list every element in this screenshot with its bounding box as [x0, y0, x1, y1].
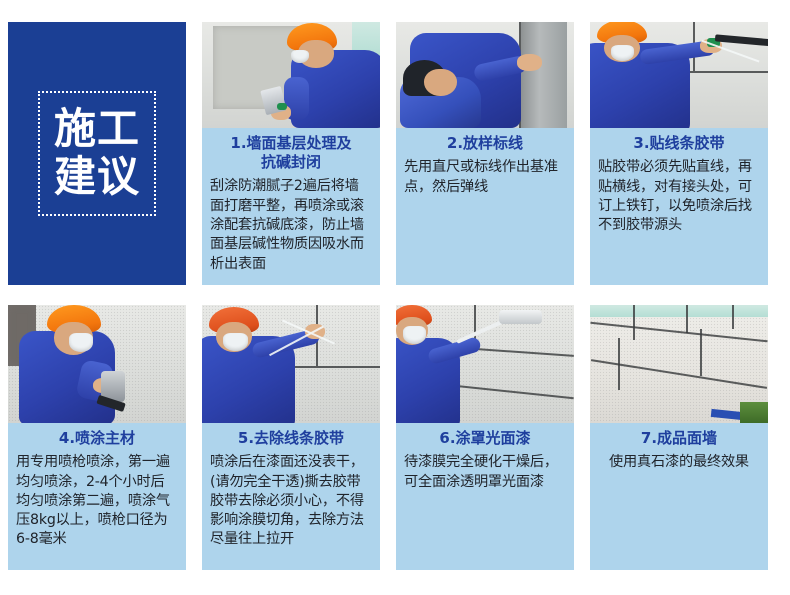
step-text-6: 待漆膜完全硬化干燥后，可全面涂透明罩光面漆: [404, 453, 566, 492]
steps-grid: 施工 建议: [8, 22, 782, 570]
step-card-2: 2.放样标线 先用直尺或标线作出基准点，然后弹线: [396, 22, 574, 285]
step-title-6: 6.涂罩光面漆: [404, 429, 566, 448]
step-card-4: 4.喷涂主材 用专用喷枪喷涂，第一遍均匀喷涂，2-4个小时后均匀喷涂第二遍，喷涂…: [8, 305, 186, 570]
step-title-1: 1.墙面基层处理及 抗碱封闭: [210, 134, 372, 172]
photo-marking-lines: [396, 22, 574, 128]
hero-dotted-frame: 施工 建议: [38, 91, 156, 215]
hero-panel: 施工 建议: [8, 22, 186, 285]
construction-advice-infographic: 施工 建议: [0, 0, 790, 595]
photo-applying-tape: [590, 22, 768, 128]
step-card-3: 3.贴线条胶带 贴胶带必须先贴直线，再贴横线，对有接头处，可订上铁钉，以免喷涂后…: [590, 22, 768, 285]
step-text-4: 用专用喷枪喷涂，第一遍均匀喷涂，2-4个小时后均匀喷涂第二遍，喷涂气压8kg以上…: [16, 453, 178, 550]
photo-removing-tape: [202, 305, 380, 423]
photo-spraying-main-material: [8, 305, 186, 423]
step-text-2: 先用直尺或标线作出基准点，然后弹线: [404, 158, 566, 197]
step-card-1: 1.墙面基层处理及 抗碱封闭 刮涂防潮腻子2遍后将墙面打磨平整，再喷涂或滚涂配套…: [202, 22, 380, 285]
hero-title-line-1: 施工: [54, 105, 140, 152]
step-card-7: 7.成品面墙 使用真石漆的最终效果: [590, 305, 768, 570]
step-text-3: 贴胶带必须先贴直线，再贴横线，对有接头处，可订上铁钉，以免喷涂后找不到胶带源头: [598, 158, 760, 235]
step-text-5: 喷涂后在漆面还没表干，(请勿完全干透)撕去胶带胶带去除必须小心，不得影响涂膜切角…: [210, 453, 372, 550]
step-title-7: 7.成品面墙: [598, 429, 760, 448]
step-title-5: 5.去除线条胶带: [210, 429, 372, 448]
step-text-1: 刮涂防潮腻子2遍后将墙面打磨平整，再喷涂或滚涂配套抗碱底漆，防止墙面基层碱性物质…: [210, 177, 372, 274]
photo-base-treatment: [202, 22, 380, 128]
photo-finished-wall: [590, 305, 768, 423]
step-title-3: 3.贴线条胶带: [598, 134, 760, 153]
step-title-2: 2.放样标线: [404, 134, 566, 153]
step-card-5: 5.去除线条胶带 喷涂后在漆面还没表干，(请勿完全干透)撕去胶带胶带去除必须小心…: [202, 305, 380, 570]
step-card-6: 6.涂罩光面漆 待漆膜完全硬化干燥后，可全面涂透明罩光面漆: [396, 305, 574, 570]
step-title-4: 4.喷涂主材: [16, 429, 178, 448]
hero-title-line-2: 建议: [54, 153, 140, 200]
step-text-7: 使用真石漆的最终效果: [598, 453, 760, 472]
photo-clear-topcoat: [396, 305, 574, 423]
